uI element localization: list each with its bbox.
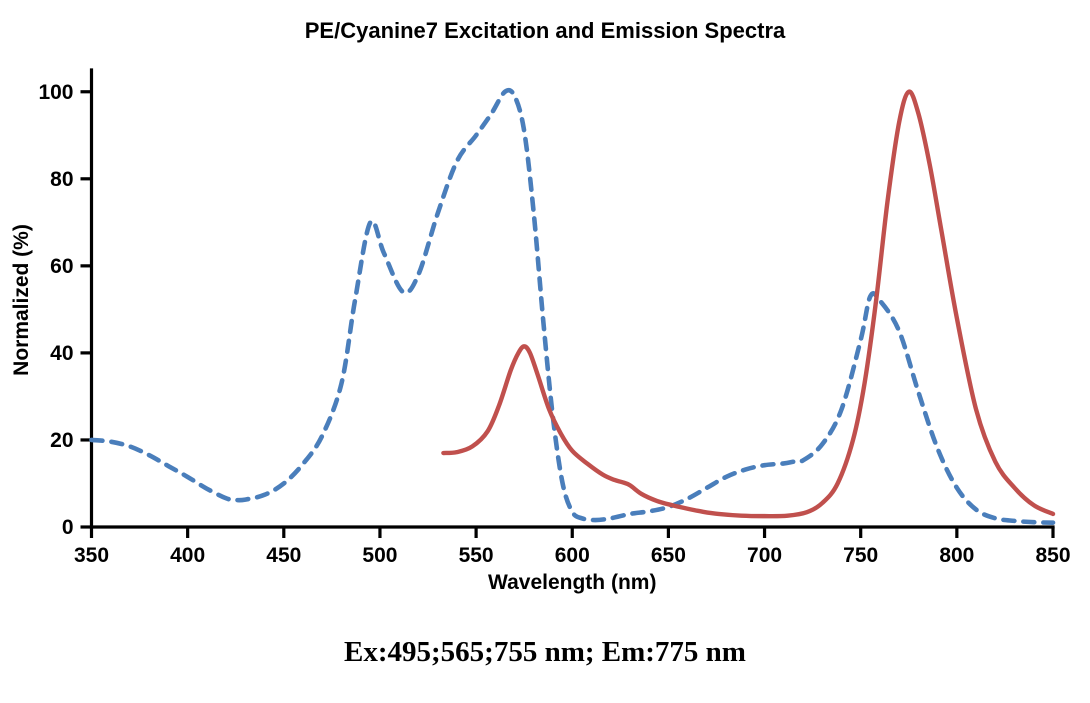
- y-tick-label: 0: [62, 516, 74, 539]
- y-axis-ticks: 020406080100: [38, 81, 91, 539]
- y-tick-label: 80: [50, 168, 73, 191]
- series-excitation-line: [92, 90, 1054, 523]
- data-series-group: [92, 90, 1054, 523]
- x-tick-label: 650: [651, 544, 686, 567]
- y-tick-label: 20: [50, 429, 73, 452]
- x-tick-label: 500: [362, 544, 397, 567]
- series-emission-line: [443, 92, 1053, 517]
- x-axis-title: Wavelength (nm): [488, 571, 656, 594]
- x-tick-label: 800: [939, 544, 974, 567]
- y-axis-title: Normalized (%): [10, 224, 33, 376]
- x-tick-label: 400: [170, 544, 205, 567]
- chart-caption: Ex:495;565;755 nm; Em:775 nm: [0, 636, 1090, 669]
- spectra-plot: 020406080100 350400450500550600650700750…: [0, 0, 1090, 703]
- plot-frame: [92, 70, 1054, 527]
- y-tick-label: 100: [38, 81, 73, 104]
- x-tick-label: 600: [555, 544, 590, 567]
- x-tick-label: 750: [843, 544, 878, 567]
- x-tick-label: 450: [266, 544, 301, 567]
- x-tick-label: 350: [74, 544, 109, 567]
- x-axis-ticks: 350400450500550600650700750800850: [74, 527, 1071, 567]
- x-tick-label: 850: [1035, 544, 1070, 567]
- x-tick-label: 700: [747, 544, 782, 567]
- spectra-figure: PE/Cyanine7 Excitation and Emission Spec…: [0, 0, 1090, 703]
- y-tick-label: 60: [50, 255, 73, 278]
- x-tick-label: 550: [459, 544, 494, 567]
- y-tick-label: 40: [50, 342, 73, 365]
